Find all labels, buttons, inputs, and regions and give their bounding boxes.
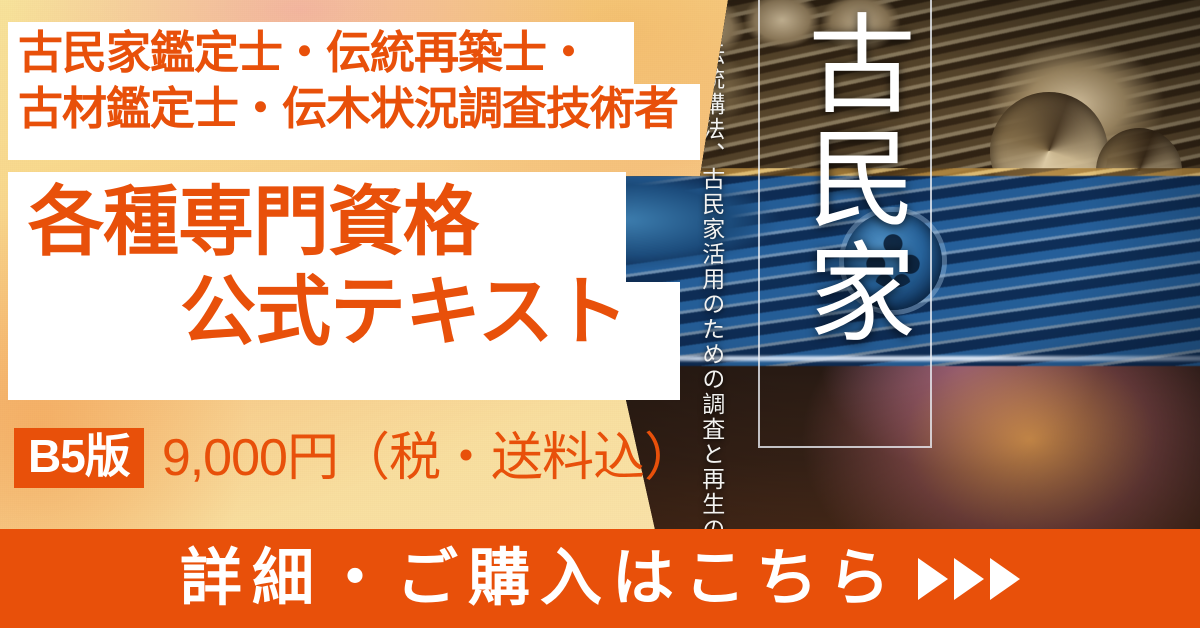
cover-title: 古民家 [770,8,920,350]
triangle-right-icon [954,558,984,600]
cta-label: 詳細・ご購入はこちら [180,548,900,610]
cta-arrows [918,558,1020,600]
price-row: B5版 9,000円（税・送料込） [14,428,695,488]
triangle-right-icon [918,558,948,600]
main-title: 各種専門資格 公式テキスト [22,178,682,357]
headline-line-1: 古民家鑑定士・伝統再築士・ [18,26,718,82]
format-badge: B5版 [14,428,144,488]
main-title-line-1: 各種専門資格 [22,178,682,268]
cta-bar[interactable]: 詳細・ご購入はこちら [0,529,1200,628]
headline-line-2: 古材鑑定士・伝木状況調査技術者 [18,82,718,138]
price-amount: 9,000円（税・送料込） [162,432,695,484]
main-title-line-2: 公式テキスト [22,268,682,358]
headline: 古民家鑑定士・伝統再築士・ 古材鑑定士・伝木状況調査技術者 [18,26,718,138]
triangle-right-icon [990,558,1020,600]
promo-banner: 古民家 伝統構法、古民家活用のための調査と再生の 古民家鑑定士・伝統再築士・ 古… [0,0,1200,628]
